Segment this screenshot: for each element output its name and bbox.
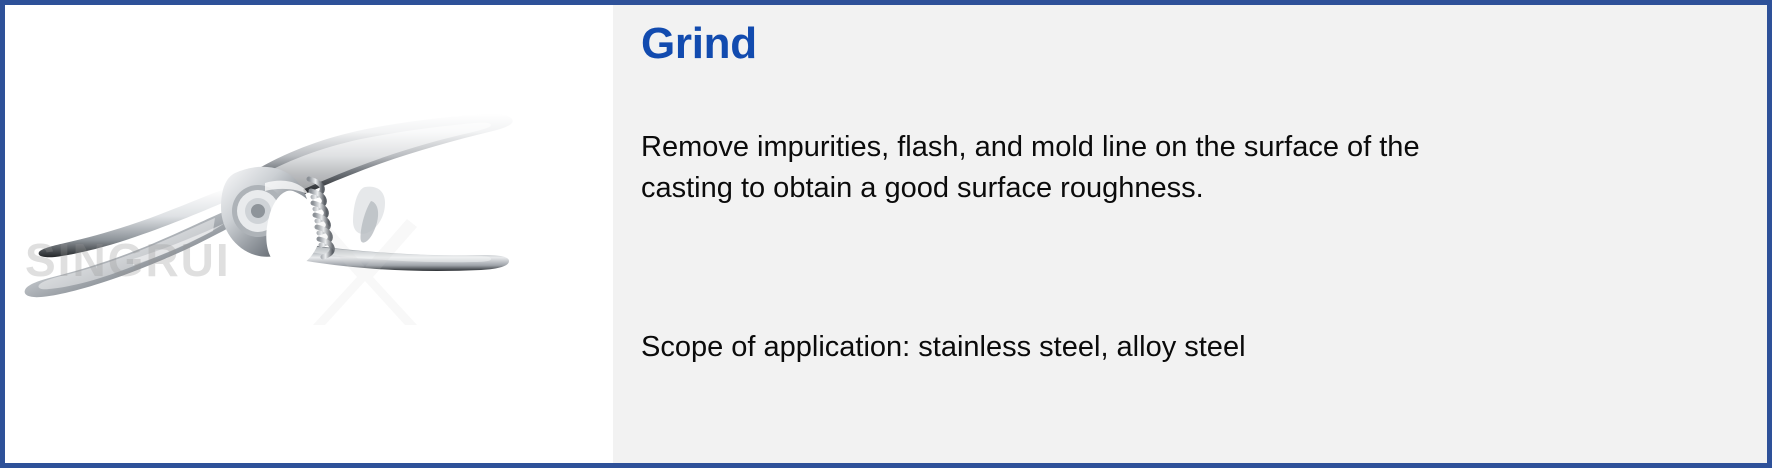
product-image: SINGRUI: [5, 5, 613, 463]
product-image-panel: SINGRUI: [5, 5, 613, 463]
scope-of-application-text: Scope of application: stainless steel, a…: [641, 327, 1541, 368]
process-card: SINGRUI Grind Remove impurities, flash, …: [0, 0, 1772, 468]
description-block: Remove impurities, flash, and mold line …: [641, 127, 1521, 209]
description-line-2: casting to obtain a good surface roughne…: [641, 168, 1521, 209]
card-inner: SINGRUI Grind Remove impurities, flash, …: [5, 5, 1767, 463]
scope-block: Scope of application: stainless steel, a…: [641, 327, 1541, 368]
page-title: Grind: [641, 17, 757, 71]
description-line-1: Remove impurities, flash, and mold line …: [641, 127, 1521, 168]
description-panel: Grind Remove impurities, flash, and mold…: [613, 5, 1767, 463]
pruning-shears-illustration: [13, 83, 553, 323]
